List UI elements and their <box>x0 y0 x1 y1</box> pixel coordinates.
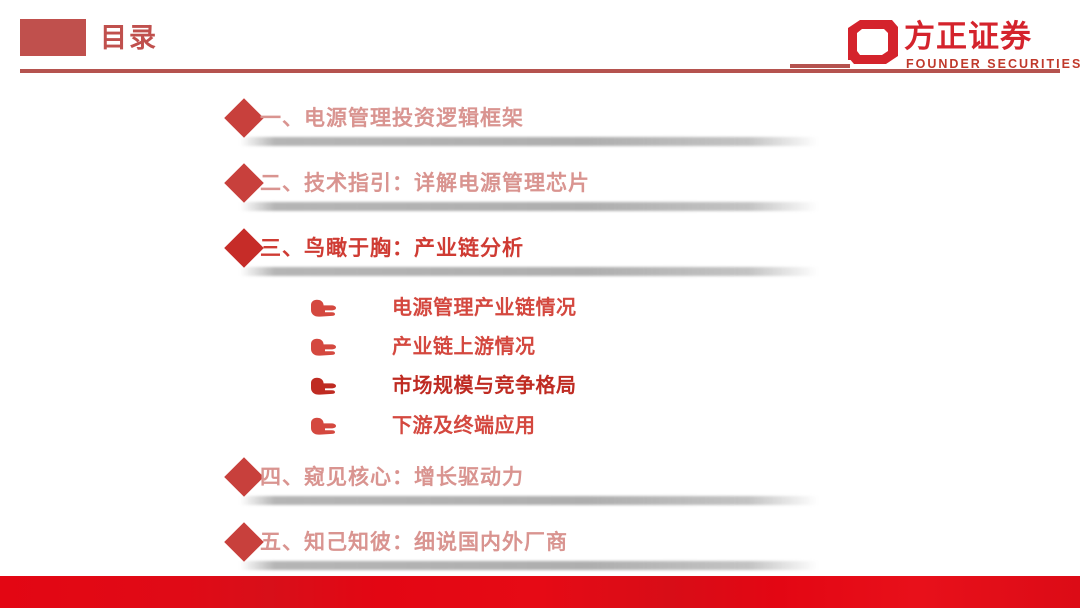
toc-sub-item-label: 产业链上游情况 <box>392 332 536 362</box>
pointing-hand-icon <box>308 336 338 360</box>
pointing-hand-icon <box>308 415 338 439</box>
toc-item-shadow <box>240 267 818 276</box>
toc-item[interactable]: 二、技术指引：详解电源管理芯片 <box>230 164 830 210</box>
toc-item[interactable]: 五、知己知彼：细说国内外厂商 <box>230 523 830 569</box>
footer-bar <box>0 576 1080 608</box>
toc-sub-item-label: 下游及终端应用 <box>392 411 536 441</box>
toc-item-active[interactable]: 三、鸟瞰于胸：产业链分析 <box>230 229 830 275</box>
diamond-bullet-icon <box>224 228 264 268</box>
toc-item-label: 四、窥见核心：增长驱动力 <box>260 461 524 495</box>
table-of-contents: 一、电源管理投资逻辑框架 二、技术指引：详解电源管理芯片 三、鸟瞰于胸：产业链分… <box>0 0 1080 608</box>
pointing-hand-icon <box>308 375 338 399</box>
toc-item[interactable]: 一、电源管理投资逻辑框架 <box>230 99 830 145</box>
toc-sub-item-active[interactable]: 市场规模与竞争格局 <box>308 371 728 407</box>
toc-item-shadow <box>240 137 818 146</box>
diamond-bullet-icon <box>224 522 264 562</box>
toc-item-label: 二、技术指引：详解电源管理芯片 <box>260 167 590 201</box>
toc-item-label: 三、鸟瞰于胸：产业链分析 <box>260 232 524 266</box>
diamond-bullet-icon <box>224 163 264 203</box>
toc-item[interactable]: 四、窥见核心：增长驱动力 <box>230 458 830 504</box>
pointing-hand-icon <box>308 297 338 321</box>
toc-sub-item-label: 电源管理产业链情况 <box>392 293 577 323</box>
toc-item-label: 五、知己知彼：细说国内外厂商 <box>260 526 568 560</box>
toc-item-label: 一、电源管理投资逻辑框架 <box>260 102 524 136</box>
toc-item-shadow <box>240 202 818 211</box>
toc-sub-item[interactable]: 产业链上游情况 <box>308 332 728 368</box>
toc-sub-item-label: 市场规模与竞争格局 <box>392 371 577 401</box>
toc-sub-item[interactable]: 电源管理产业链情况 <box>308 293 728 329</box>
diamond-bullet-icon <box>224 457 264 497</box>
toc-item-shadow <box>240 496 818 505</box>
toc-sub-item[interactable]: 下游及终端应用 <box>308 411 728 447</box>
toc-item-shadow <box>240 561 818 570</box>
diamond-bullet-icon <box>224 98 264 138</box>
